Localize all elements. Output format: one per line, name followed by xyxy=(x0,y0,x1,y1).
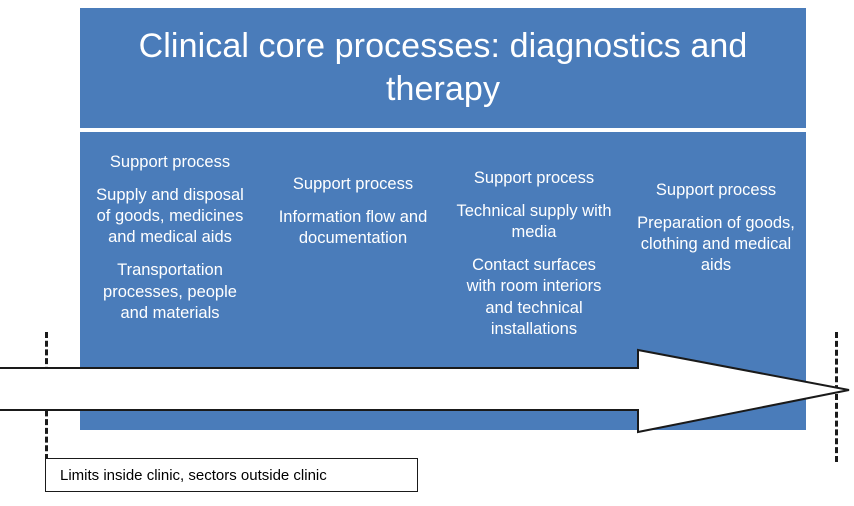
caption-text: Limits inside clinic, sectors outside cl… xyxy=(60,468,327,483)
column-text: Information flow and documentation xyxy=(274,207,432,249)
support-process-column-preparation-of-goods: Support process Preparation of goods, cl… xyxy=(626,132,806,430)
column-heading: Support process xyxy=(90,152,250,173)
support-process-column-supply-and-disposal: Support process Supply and disposal of g… xyxy=(80,132,260,430)
support-process-column-information-flow: Support process Information flow and doc… xyxy=(264,132,442,430)
clinic-boundary-right-dashed-line xyxy=(835,332,838,462)
support-process-columns: Support process Supply and disposal of g… xyxy=(80,132,806,430)
column-text: Contact surfaces with room interiors and… xyxy=(456,255,612,339)
column-heading: Support process xyxy=(456,168,612,189)
caption-box: Limits inside clinic, sectors outside cl… xyxy=(45,458,418,492)
column-text: Preparation of goods, clothing and medic… xyxy=(636,213,796,276)
support-process-column-technical-supply: Support process Technical supply with me… xyxy=(446,132,622,430)
column-heading: Support process xyxy=(636,180,796,201)
header-band: Clinical core processes: diagnostics and… xyxy=(80,8,806,128)
page-title: Clinical core processes: diagnostics and… xyxy=(116,25,770,111)
column-heading: Support process xyxy=(274,174,432,195)
column-text: Technical supply with media xyxy=(456,201,612,243)
column-text: Transportation processes, people and mat… xyxy=(90,260,250,323)
column-text: Supply and disposal of goods, medicines … xyxy=(90,185,250,248)
diagram-canvas: Clinical core processes: diagnostics and… xyxy=(0,0,854,506)
clinic-boundary-left-dashed-line xyxy=(45,332,48,460)
